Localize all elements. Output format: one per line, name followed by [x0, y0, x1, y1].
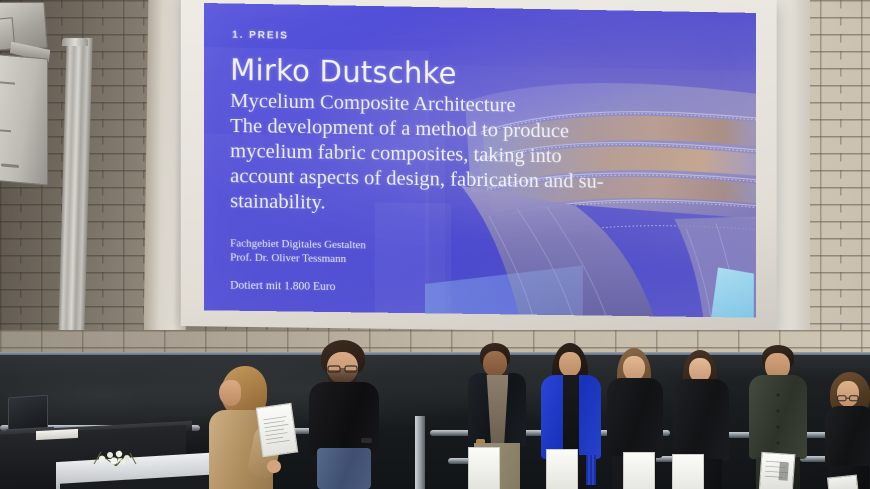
certificate-sheet	[256, 403, 299, 458]
certificate-sheet	[623, 452, 655, 489]
laureate-sweater	[309, 382, 379, 454]
laureate-watch	[361, 438, 372, 443]
eyeglasses-icon	[327, 360, 358, 368]
awardee7-turtleneck	[825, 406, 870, 468]
person-laureate	[305, 340, 385, 489]
awardee2-watch	[476, 439, 485, 444]
slide-prize-label: 1. PREIS	[232, 30, 289, 42]
wall-control-panel	[0, 53, 48, 185]
certificate-sheet	[759, 452, 796, 489]
person-awardee-3	[540, 343, 602, 489]
board-post	[415, 416, 425, 489]
certificate-sheet	[672, 454, 704, 489]
certificate-sheet	[546, 449, 578, 489]
column-cap	[62, 38, 88, 46]
awardee3-face	[559, 352, 581, 377]
slide-endowment: Dotiert mit 1.800 Euro	[230, 280, 335, 293]
person-awardee-7	[824, 372, 870, 489]
awardee5-jacket	[673, 379, 729, 461]
laureate-jeans	[317, 448, 371, 489]
person-awardee-5	[672, 350, 732, 489]
slide-laureate-name: Mirko Dutschke	[230, 53, 457, 91]
awardee2-face	[483, 351, 507, 377]
awardee4-top	[607, 378, 663, 458]
slide-abstract: Mycelium Composite Architecture The deve…	[230, 89, 660, 221]
slide-department-block: Fachgebiet Digitales Gestalten Prof. Dr.…	[230, 236, 366, 266]
certificate-sheet	[827, 474, 859, 489]
person-awardee-4	[605, 348, 665, 489]
host-face	[219, 380, 241, 406]
host-hand	[267, 460, 281, 473]
lecture-hall-photo: 1. PREIS Mirko Dutschke Mycelium Composi…	[0, 0, 870, 489]
flower-arrangement	[92, 446, 140, 466]
projected-slide: 1. PREIS Mirko Dutschke Mycelium Composi…	[204, 3, 756, 318]
slide-supervisor: Prof. Dr. Oliver Tessmann	[230, 250, 366, 266]
certificate-sheet	[468, 447, 500, 489]
eyeglasses-icon	[837, 389, 859, 396]
person-awardee-2	[466, 343, 528, 489]
awardee6-buttons	[776, 391, 780, 447]
awardee3-inner-black	[563, 375, 579, 455]
person-awardee-6	[748, 345, 810, 489]
